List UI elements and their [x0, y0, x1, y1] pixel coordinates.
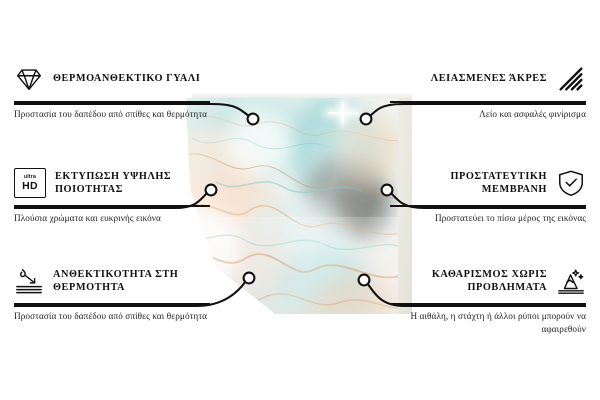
feature-description: Λείο και ασφαλές φινίρισμα — [390, 108, 586, 121]
feature-title: ΠΡΟΣΤΑΤΕΥΤΙΚΗ ΜΕΜΒΡΑΝΗ — [390, 170, 547, 196]
feature-description: Προστασία του δαπέδου από σπίθες και θερ… — [14, 108, 210, 121]
feature-heat-durability[interactable]: ΑΝΘΕΚΤΙΚΟΤΗΤΑ ΣΤΗ ΘΕΡΜΟΤΗΤΑ Προστασία το… — [14, 264, 210, 323]
feature-protective-membrane[interactable]: ΠΡΟΣΤΑΤΕΥΤΙΚΗ ΜΕΜΒΡΑΝΗ Προστατεύει το πί… — [390, 166, 586, 225]
feature-header: ΚΑΘΑΡΙΣΜΟΣ ΧΩΡΙΣ ΠΡΟΒΛΗΜΑΤΑ — [390, 264, 586, 298]
sparkle-clean-icon — [556, 266, 586, 296]
feature-description: Προστατεύει το πίσω μέρος της εικόνας — [390, 212, 586, 225]
feature-easy-cleaning[interactable]: ΚΑΘΑΡΙΣΜΟΣ ΧΩΡΙΣ ΠΡΟΒΛΗΜΑΤΑ Η αιθάλη, η … — [390, 264, 586, 336]
feature-header: ΠΡΟΣΤΑΤΕΥΤΙΚΗ ΜΕΜΒΡΑΝΗ — [390, 166, 586, 200]
feature-divider — [14, 101, 210, 103]
feature-heat-resistant-glass[interactable]: ΘΕΡΜΟΑΝΘΕΚΤΙΚΟ ΓΥΑΛΙ Προστασία του δαπέδ… — [14, 62, 210, 121]
ultra-hd-icon: ultraHD — [14, 168, 46, 198]
feature-smoothed-edges[interactable]: ΛΕΙΑΣΜΕΝΕΣ ΆΚΡΕΣ Λείο και ασφαλές φινίρι… — [390, 62, 586, 121]
feature-high-quality-print[interactable]: ultraHD ΕΚΤΥΠΩΣΗ ΥΨΗΛΗΣ ΠΟΙΟΤΗΤΑΣ Πλούσι… — [14, 166, 210, 225]
feature-divider — [390, 101, 586, 103]
feature-title: ΚΑΘΑΡΙΣΜΟΣ ΧΩΡΙΣ ΠΡΟΒΛΗΜΑΤΑ — [390, 268, 547, 294]
feature-header: ultraHD ΕΚΤΥΠΩΣΗ ΥΨΗΛΗΣ ΠΟΙΟΤΗΤΑΣ — [14, 166, 210, 200]
product-image — [178, 92, 410, 320]
feature-title: ΕΚΤΥΠΩΣΗ ΥΨΗΛΗΣ ΠΟΙΟΤΗΤΑΣ — [55, 170, 210, 196]
feature-divider — [14, 205, 210, 207]
feature-divider — [390, 303, 586, 305]
feature-title: ΘΕΡΜΟΑΝΘΕΚΤΙΚΟ ΓΥΑΛΙ — [53, 72, 210, 85]
flame-deflect-icon — [14, 266, 44, 296]
feature-header: ΘΕΡΜΟΑΝΘΕΚΤΙΚΟ ΓΥΑΛΙ — [14, 62, 210, 96]
feature-header: ΛΕΙΑΣΜΕΝΕΣ ΆΚΡΕΣ — [390, 62, 586, 96]
feature-description: Η αιθάλη, η στάχτη ή άλλοι ρύποι μπορούν… — [390, 310, 586, 336]
feature-description: Προστασία του δαπέδου από σπίθες και θερ… — [14, 310, 210, 323]
feature-title: ΛΕΙΑΣΜΕΝΕΣ ΆΚΡΕΣ — [390, 72, 547, 85]
feature-title: ΑΝΘΕΚΤΙΚΟΤΗΤΑ ΣΤΗ ΘΕΡΜΟΤΗΤΑ — [53, 268, 210, 294]
hatched-edge-icon — [556, 64, 586, 94]
shield-check-icon — [556, 168, 586, 198]
feature-divider — [390, 205, 586, 207]
feature-divider — [14, 303, 210, 305]
feature-header: ΑΝΘΕΚΤΙΚΟΤΗΤΑ ΣΤΗ ΘΕΡΜΟΤΗΤΑ — [14, 264, 210, 298]
infographic-stage: ΘΕΡΜΟΑΝΘΕΚΤΙΚΟ ΓΥΑΛΙ Προστασία του δαπέδ… — [0, 0, 600, 400]
panel-artwork — [186, 98, 398, 314]
feature-description: Πλούσια χρώματα και ευκρινής εικόνα — [14, 212, 210, 225]
diamond-icon — [14, 64, 44, 94]
